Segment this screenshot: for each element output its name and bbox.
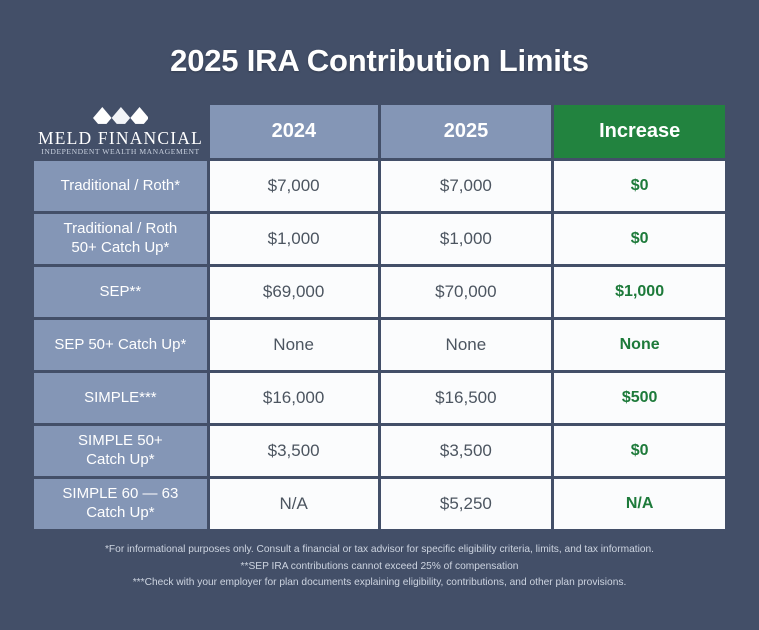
cell-increase: N/A	[554, 479, 725, 529]
cell-2025: $1,000	[381, 214, 552, 264]
cell-2024: $69,000	[210, 267, 378, 317]
column-header-2025: 2025	[381, 105, 552, 158]
cell-2025: $3,500	[381, 426, 552, 476]
row-label-line1: SIMPLE 60 — 63	[62, 485, 178, 504]
footnotes: *For informational purposes only. Consul…	[0, 542, 759, 592]
footnote-3: ***Check with your employer for plan doc…	[0, 575, 759, 592]
table-row: SEP 50+ Catch Up* None None None	[34, 320, 725, 370]
row-label-line2: Catch Up*	[78, 451, 163, 470]
cell-2025: $7,000	[381, 161, 552, 211]
table-row: SIMPLE 60 — 63 Catch Up* N/A $5,250 N/A	[34, 479, 725, 529]
row-label: SIMPLE 50+ Catch Up*	[34, 426, 207, 476]
table-row: Traditional / Roth 50+ Catch Up* $1,000 …	[34, 214, 725, 264]
row-label: Traditional / Roth*	[34, 161, 207, 211]
cell-2025: None	[381, 320, 552, 370]
row-label-line1: SEP**	[100, 283, 142, 302]
cell-increase: $500	[554, 373, 725, 423]
cell-2024: $1,000	[210, 214, 378, 264]
brand-logo: MELD FINANCIAL INDEPENDENT WEALTH MANAGE…	[34, 105, 207, 158]
cell-increase: None	[554, 320, 725, 370]
table-row: SIMPLE 50+ Catch Up* $3,500 $3,500 $0	[34, 426, 725, 476]
cell-2024: $16,000	[210, 373, 378, 423]
table-row: Traditional / Roth* $7,000 $7,000 $0	[34, 161, 725, 211]
cell-increase: $1,000	[554, 267, 725, 317]
row-label: SEP 50+ Catch Up*	[34, 320, 207, 370]
row-label-line1: Traditional / Roth*	[61, 177, 181, 196]
row-label-line2: 50+ Catch Up*	[64, 239, 178, 258]
row-label-line1: SIMPLE***	[84, 389, 157, 408]
cell-2024: $3,500	[210, 426, 378, 476]
table-row: SEP** $69,000 $70,000 $1,000	[34, 267, 725, 317]
cell-increase: $0	[554, 161, 725, 211]
table-header-row: MELD FINANCIAL INDEPENDENT WEALTH MANAGE…	[34, 105, 725, 158]
footnote-1: *For informational purposes only. Consul…	[0, 542, 759, 559]
cell-2024: None	[210, 320, 378, 370]
cell-2024: N/A	[210, 479, 378, 529]
row-label: SIMPLE***	[34, 373, 207, 423]
row-label: SIMPLE 60 — 63 Catch Up*	[34, 479, 207, 529]
row-label-line1: SEP 50+ Catch Up*	[54, 336, 186, 355]
logo-company-name: MELD FINANCIAL	[38, 130, 203, 148]
cell-increase: $0	[554, 214, 725, 264]
ira-limits-table: MELD FINANCIAL INDEPENDENT WEALTH MANAGE…	[34, 105, 725, 532]
cell-2025: $16,500	[381, 373, 552, 423]
logo-tagline: INDEPENDENT WEALTH MANAGEMENT	[41, 147, 199, 157]
meld-diamond-icon	[93, 107, 149, 129]
table-row: SIMPLE*** $16,000 $16,500 $500	[34, 373, 725, 423]
row-label: Traditional / Roth 50+ Catch Up*	[34, 214, 207, 264]
column-header-increase: Increase	[554, 105, 725, 158]
page-title: 2025 IRA Contribution Limits	[0, 0, 759, 76]
column-header-2024: 2024	[210, 105, 378, 158]
row-label-line1: SIMPLE 50+	[78, 432, 163, 451]
row-label: SEP**	[34, 267, 207, 317]
row-label-line1: Traditional / Roth	[64, 220, 178, 239]
footnote-2: **SEP IRA contributions cannot exceed 25…	[0, 559, 759, 576]
row-label-line2: Catch Up*	[62, 504, 178, 523]
cell-2025: $70,000	[381, 267, 552, 317]
cell-2025: $5,250	[381, 479, 552, 529]
cell-increase: $0	[554, 426, 725, 476]
cell-2024: $7,000	[210, 161, 378, 211]
